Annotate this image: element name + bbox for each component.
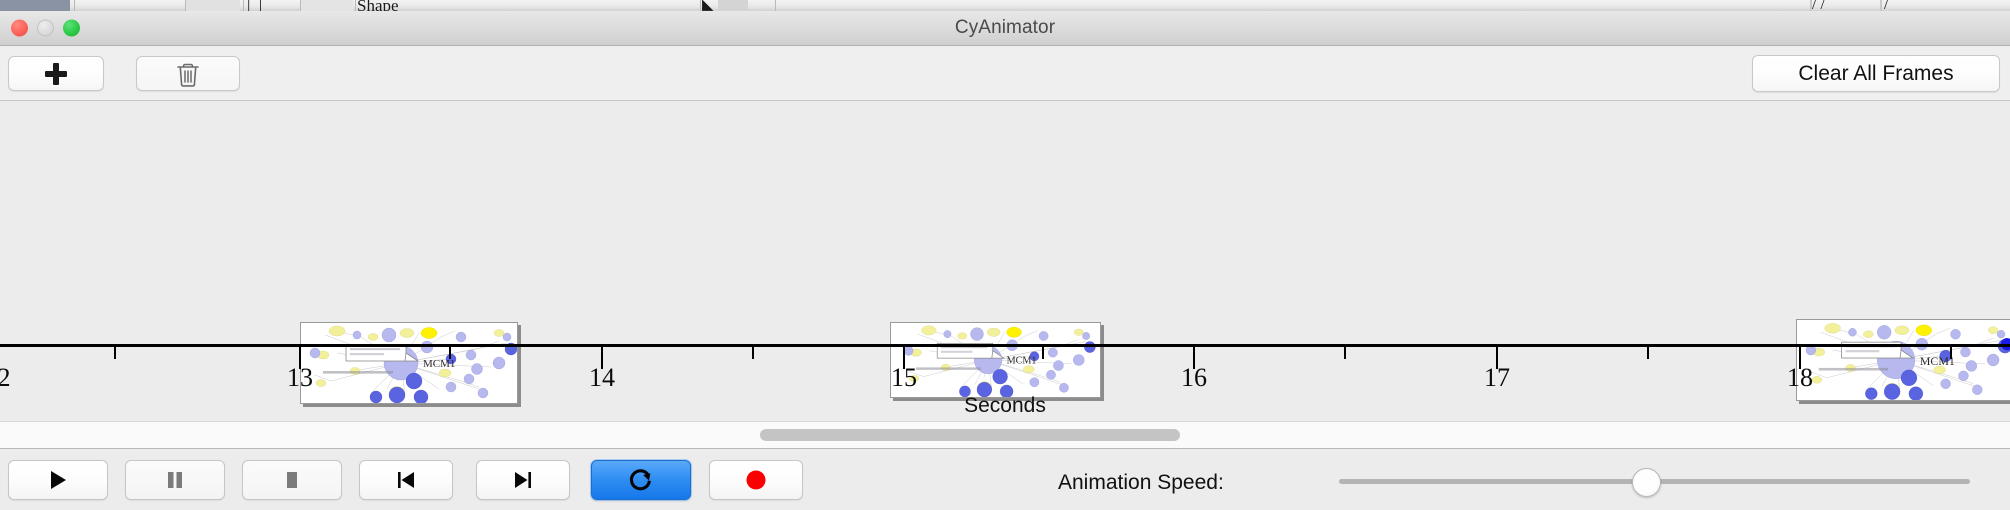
timeline-minor-tick bbox=[1042, 347, 1044, 359]
zoom-button[interactable] bbox=[63, 20, 80, 37]
window-titlebar: CyAnimator bbox=[0, 11, 2010, 46]
frame-thumbnail[interactable]: MCM1 bbox=[1796, 319, 2010, 401]
background-divider bbox=[355, 0, 356, 11]
background-control bbox=[186, 0, 240, 11]
loop-icon bbox=[628, 467, 654, 493]
svg-text:MCM1: MCM1 bbox=[1007, 356, 1037, 367]
background-glyph-slash: / / bbox=[1812, 0, 1825, 11]
background-control bbox=[301, 0, 353, 11]
svg-text:MCM1: MCM1 bbox=[423, 358, 455, 370]
playback-toolbar: Animation Speed: bbox=[0, 449, 2010, 510]
background-divider bbox=[700, 0, 701, 11]
timeline-tick-label: 14 bbox=[589, 363, 615, 393]
play-icon bbox=[47, 468, 69, 492]
minimize-button[interactable] bbox=[37, 20, 54, 37]
timeline-tick-label: 17 bbox=[1484, 363, 1510, 393]
add-frame-button[interactable] bbox=[8, 56, 104, 91]
close-button[interactable] bbox=[11, 20, 28, 37]
scrollbar-thumb[interactable] bbox=[760, 429, 1180, 441]
timeline-panel[interactable]: MCM1 bbox=[0, 101, 2010, 421]
background-divider bbox=[1880, 0, 1882, 11]
timeline-minor-tick bbox=[1647, 347, 1649, 359]
timeline-axis-line bbox=[0, 344, 2010, 347]
window-title: CyAnimator bbox=[955, 17, 1055, 39]
previous-frame-button[interactable] bbox=[359, 460, 453, 500]
background-divider bbox=[243, 0, 244, 11]
timeline-minor-tick bbox=[449, 347, 451, 359]
background-control bbox=[718, 0, 748, 11]
timeline-horizontal-scrollbar[interactable] bbox=[0, 421, 2010, 449]
timeline-minor-tick bbox=[1950, 347, 1952, 359]
timeline-axis-title: Seconds bbox=[0, 394, 2010, 418]
cyanimator-window: CyAnimator Clear All Frames bbox=[0, 11, 2010, 510]
skip-previous-icon bbox=[394, 468, 418, 492]
pause-icon bbox=[164, 468, 186, 492]
stop-button[interactable] bbox=[242, 460, 342, 500]
next-frame-button[interactable] bbox=[476, 460, 570, 500]
record-icon bbox=[744, 468, 768, 492]
timeline-tick-label: 13 bbox=[287, 363, 313, 393]
timeline-minor-tick bbox=[114, 347, 116, 359]
background-glyph-bracket: | | bbox=[247, 0, 262, 11]
timeline-minor-tick bbox=[1344, 347, 1346, 359]
background-window: | | Shape ◣ / / / bbox=[0, 0, 2010, 11]
frame-thumbnail[interactable]: MCM1 bbox=[300, 322, 518, 404]
background-divider bbox=[775, 0, 776, 11]
background-label-shape: Shape bbox=[357, 0, 399, 11]
timeline-tick-label: 18 bbox=[1787, 363, 1813, 393]
timeline-tick-label: 15 bbox=[891, 363, 917, 393]
frame-toolbar: Clear All Frames bbox=[0, 46, 2010, 101]
timeline-tick-label: 16 bbox=[1181, 363, 1207, 393]
background-window-active-tab bbox=[0, 0, 70, 11]
stop-icon bbox=[281, 468, 303, 492]
timeline-minor-tick bbox=[752, 347, 754, 359]
animation-speed-slider-thumb[interactable] bbox=[1632, 468, 1661, 497]
background-glyph-arrow: ◣ bbox=[702, 0, 714, 11]
loop-button[interactable] bbox=[591, 460, 691, 500]
background-divider bbox=[74, 0, 75, 11]
delete-frame-button[interactable] bbox=[136, 56, 240, 91]
record-button[interactable] bbox=[709, 460, 803, 500]
window-traffic-lights bbox=[11, 20, 80, 37]
play-button[interactable] bbox=[8, 460, 108, 500]
clear-all-frames-button[interactable]: Clear All Frames bbox=[1752, 55, 2000, 92]
animation-speed-label: Animation Speed: bbox=[1058, 471, 1224, 495]
background-glyph-slash-2: / bbox=[1884, 0, 1888, 11]
trash-icon bbox=[175, 60, 201, 88]
plus-icon bbox=[45, 63, 67, 85]
skip-next-icon bbox=[511, 468, 535, 492]
frame-thumbnail[interactable]: MCM1 bbox=[890, 322, 1101, 398]
timeline-tick-label: 2 bbox=[0, 363, 11, 393]
pause-button[interactable] bbox=[125, 460, 225, 500]
